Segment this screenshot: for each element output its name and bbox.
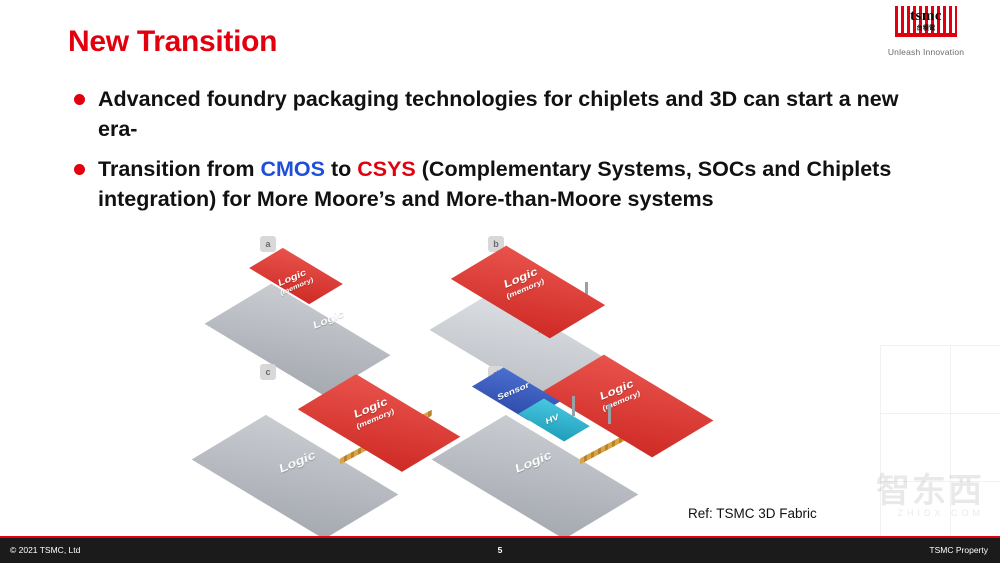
bullet-2-seg-cmos: CMOS (260, 157, 325, 181)
interconnect-pillar (572, 396, 575, 416)
tsmc-logo: tsmc 台積電 Unleash Innovation (866, 6, 986, 57)
bullet-dot-icon (74, 164, 85, 175)
logo-underbar (895, 33, 957, 37)
logo-mark: tsmc 台積電 (895, 6, 957, 44)
figure-panel-b: b Logic Logic(memory) (440, 228, 700, 358)
bullet-2-seg-0: Transition from (98, 157, 260, 181)
page-number: 5 (0, 545, 1000, 555)
page-title: New Transition (68, 25, 277, 59)
figure-panel-d: d Logic Logic(memory) Sensor HV (460, 340, 760, 490)
panel-badge-a: a (260, 236, 276, 252)
slide: tsmc 台積電 Unleash Innovation New Transiti… (0, 0, 1000, 563)
watermark: 智东西 ZHIDX.COM (876, 463, 984, 518)
bullet-1-seg-0: Advanced foundry packaging technologies … (98, 87, 898, 141)
figure-reference: Ref: TSMC 3D Fabric (688, 506, 817, 521)
figure-3d-fabric: a Logic Logic(memory) b Logic (210, 228, 770, 478)
property-notice: TSMC Property (929, 545, 988, 555)
logo-tagline: Unleash Innovation (866, 47, 986, 57)
figure-panel-a: a Logic Logic(memory) (210, 228, 460, 358)
bullet-text-1: Advanced foundry packaging technologies … (98, 84, 900, 144)
bullet-2-seg-csys: CSYS (357, 157, 416, 181)
bullet-2-seg-2: to (325, 157, 357, 181)
bullet-list: Advanced foundry packaging technologies … (70, 84, 900, 224)
watermark-text: 智东西 (876, 463, 984, 512)
slide-footer: © 2021 TSMC, Ltd 5 TSMC Property (0, 538, 1000, 563)
bullet-dot-icon (74, 94, 85, 105)
logo-chinese-name: 台積電 (895, 23, 957, 32)
list-item: Transition from CMOS to CSYS (Complement… (70, 154, 900, 214)
bullet-text-2: Transition from CMOS to CSYS (Complement… (98, 154, 900, 214)
panel-badge-c: c (260, 364, 276, 380)
list-item: Advanced foundry packaging technologies … (70, 84, 900, 144)
interconnect-pillar (608, 404, 611, 424)
